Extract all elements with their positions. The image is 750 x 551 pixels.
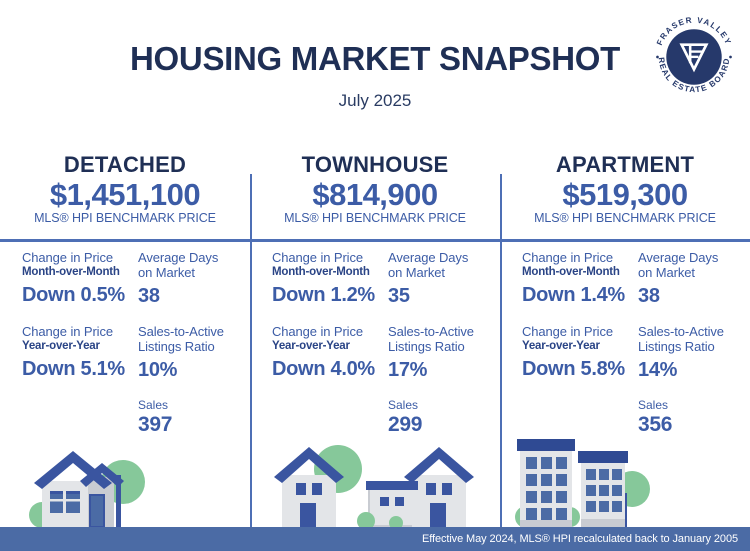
metric-label-line2: Listings Ratio: [638, 339, 750, 354]
metric-value: 14%: [638, 359, 750, 382]
metric-value: Down 1.2%: [272, 284, 384, 307]
metric-label: Change in Price: [272, 324, 384, 339]
metric-value: Down 4.0%: [272, 358, 384, 381]
metric-value: 38: [138, 285, 250, 308]
metric-label: Change in Price: [22, 324, 134, 339]
column-title: APARTMENT: [500, 152, 750, 178]
metric-change-in-price-yoy: Change in Price Year-over-Year Down 5.8%: [522, 324, 634, 381]
metric-sales-to-active-listings-ratio: Sales-to-Active Listings Ratio 10%: [138, 324, 250, 382]
metric-value: 35: [388, 285, 500, 308]
metric-change-in-price-mom: Change in Price Month-over-Month Down 1.…: [522, 250, 634, 307]
metric-value: 38: [638, 285, 750, 308]
metric-sales-to-active-listings-ratio: Sales-to-Active Listings Ratio 14%: [638, 324, 750, 382]
metric-label-line2: on Market: [388, 265, 500, 280]
metric-label: Average Days: [388, 250, 500, 265]
metric-label-line2: on Market: [138, 265, 250, 280]
metric-label: Sales-to-Active: [388, 324, 500, 339]
metric-value: Down 5.8%: [522, 358, 634, 381]
metric-label: Average Days: [638, 250, 750, 265]
metric-value: 10%: [138, 359, 250, 382]
header: HOUSING MARKET SNAPSHOT July 2025 FRASER…: [0, 0, 750, 140]
metric-label: Sales: [138, 398, 250, 412]
metric-sublabel: Month-over-Month: [522, 265, 634, 279]
benchmark-price-label: MLS® HPI BENCHMARK PRICE: [500, 211, 750, 225]
metric-change-in-price-mom: Change in Price Month-over-Month Down 0.…: [22, 250, 134, 307]
metric-label-line2: Listings Ratio: [138, 339, 250, 354]
metric-sublabel: Year-over-Year: [22, 339, 134, 353]
metric-value: Down 5.1%: [22, 358, 134, 381]
benchmark-price: $519,300: [500, 177, 750, 213]
metric-value: 17%: [388, 359, 500, 382]
benchmark-price: $1,451,100: [0, 177, 250, 213]
footer-note: Effective May 2024, MLS® HPI recalculate…: [422, 527, 738, 551]
metric-label-line2: Listings Ratio: [388, 339, 500, 354]
column-title: TOWNHOUSE: [250, 152, 500, 178]
metric-change-in-price-mom: Change in Price Month-over-Month Down 1.…: [272, 250, 384, 307]
page-title: HOUSING MARKET SNAPSHOT: [0, 40, 750, 78]
metric-label: Change in Price: [22, 250, 134, 265]
metric-average-days-on-market: Average Days on Market 35: [388, 250, 500, 308]
metric-label: Change in Price: [272, 250, 384, 265]
metric-label-line2: on Market: [638, 265, 750, 280]
metric-sublabel: Month-over-Month: [22, 265, 134, 279]
metric-average-days-on-market: Average Days on Market 38: [138, 250, 250, 308]
metric-label: Change in Price: [522, 324, 634, 339]
metric-sublabel: Year-over-Year: [522, 339, 634, 353]
metric-label: Sales-to-Active: [638, 324, 750, 339]
metric-value: Down 1.4%: [522, 284, 634, 307]
fraser-valley-real-estate-board-logo: FRASER VALLEY REAL ESTATE BOARD: [650, 13, 738, 101]
metric-label: Change in Price: [522, 250, 634, 265]
townhouse-row-illustration: [262, 427, 500, 527]
metric-sublabel: Year-over-Year: [272, 339, 384, 353]
metric-label: Average Days: [138, 250, 250, 265]
metric-average-days-on-market: Average Days on Market 38: [638, 250, 750, 308]
metric-sales-to-active-listings-ratio: Sales-to-Active Listings Ratio 17%: [388, 324, 500, 382]
detached-house-illustration: [10, 427, 250, 527]
benchmark-price-label: MLS® HPI BENCHMARK PRICE: [0, 211, 250, 225]
metric-change-in-price-yoy: Change in Price Year-over-Year Down 4.0%: [272, 324, 384, 381]
metric-label: Sales: [388, 398, 500, 412]
benchmark-price-label: MLS® HPI BENCHMARK PRICE: [250, 211, 500, 225]
column-title: DETACHED: [0, 152, 250, 178]
metric-label: Sales-to-Active: [138, 324, 250, 339]
footer-bar: Effective May 2024, MLS® HPI recalculate…: [0, 527, 750, 551]
metric-change-in-price-yoy: Change in Price Year-over-Year Down 5.1%: [22, 324, 134, 381]
metric-value: Down 0.5%: [22, 284, 134, 307]
metric-label: Sales: [638, 398, 750, 412]
apartment-buildings-illustration: [508, 427, 746, 527]
metric-sublabel: Month-over-Month: [272, 265, 384, 279]
report-month: July 2025: [0, 91, 750, 111]
benchmark-price: $814,900: [250, 177, 500, 213]
